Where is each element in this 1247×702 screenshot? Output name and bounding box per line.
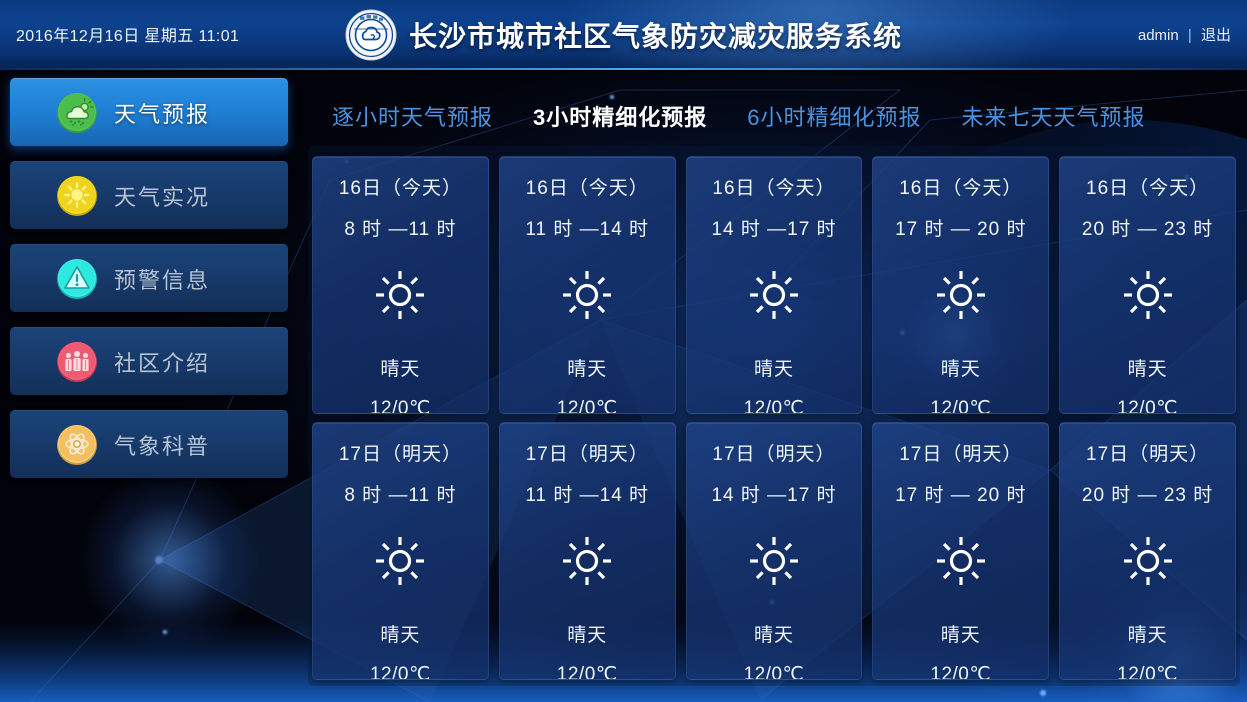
tab-hourly-forecast[interactable]: 逐小时天气预报 xyxy=(312,100,513,132)
forecast-card[interactable]: 17日（明天） 20 时 — 23 时 晴天 12/0℃ xyxy=(1059,422,1236,680)
card-description: 晴天 xyxy=(941,620,981,647)
card-temperature: 12/0℃ xyxy=(557,663,618,680)
card-description: 晴天 xyxy=(380,354,420,381)
card-day: 17日（明天） xyxy=(712,439,835,466)
sidebar-item-label: 预警信息 xyxy=(114,263,210,295)
card-day: 16日（今天） xyxy=(526,173,649,200)
forecast-card[interactable]: 17日（明天） 8 时 —11 时 晴天 12/0℃ xyxy=(312,422,489,680)
card-description: 晴天 xyxy=(567,354,607,381)
sidebar-item-live-weather[interactable]: 天气实况 xyxy=(10,161,288,229)
card-day: 16日（今天） xyxy=(899,173,1022,200)
sidebar-item-label: 天气实况 xyxy=(114,180,210,212)
card-range: 8 时 —11 时 xyxy=(344,214,456,241)
card-temperature: 12/0℃ xyxy=(744,397,805,414)
card-description: 晴天 xyxy=(380,620,420,647)
card-range: 17 时 — 20 时 xyxy=(895,480,1026,507)
sidebar-item-label: 天气预报 xyxy=(114,97,210,129)
forecast-panel: 16日（今天） 8 时 —11 时 晴天 12/0℃ xyxy=(308,146,1240,686)
card-description: 晴天 xyxy=(754,354,794,381)
cloud-sun-rain-icon xyxy=(56,92,98,134)
sun-icon xyxy=(1120,267,1176,328)
card-range: 14 时 —17 时 xyxy=(711,480,836,507)
sun-icon xyxy=(933,533,989,594)
card-day: 17日（明天） xyxy=(1086,439,1209,466)
page-title: 长沙市城市社区气象防灾减灾服务系统 xyxy=(409,15,902,55)
forecast-row-tomorrow: 17日（明天） 8 时 —11 时 晴天 12/0℃ xyxy=(308,422,1240,680)
card-day: 16日（今天） xyxy=(712,173,835,200)
forecast-card[interactable]: 17日（明天） 14 时 —17 时 晴天 12/0℃ xyxy=(686,422,863,680)
card-temperature: 12/0℃ xyxy=(370,397,431,414)
card-temperature: 12/0℃ xyxy=(1117,397,1178,414)
card-range: 20 时 — 23 时 xyxy=(1082,480,1213,507)
card-day: 17日（明天） xyxy=(339,439,462,466)
tab-seven-day-forecast[interactable]: 未来七天天气预报 xyxy=(942,100,1166,132)
sidebar-item-label: 社区介绍 xyxy=(114,346,210,378)
sun-icon xyxy=(559,267,615,328)
forecast-card[interactable]: 16日（今天） 17 时 — 20 时 晴天 12/0℃ xyxy=(872,156,1049,414)
sun-icon xyxy=(372,267,428,328)
warning-triangle-icon xyxy=(56,258,98,300)
logout-link[interactable]: 退出 xyxy=(1201,27,1231,44)
card-temperature: 12/0℃ xyxy=(930,663,991,680)
sidebar-item-community-intro[interactable]: 社区介绍 xyxy=(10,327,288,395)
sidebar-item-alerts[interactable]: 预警信息 xyxy=(10,244,288,312)
sidebar-item-science-popularization[interactable]: 气象科普 xyxy=(10,410,288,478)
atom-icon xyxy=(56,424,98,466)
app-brand: 长沙市城市社区气象防灾减灾服务系统 xyxy=(0,0,1247,70)
card-description: 晴天 xyxy=(1128,620,1168,647)
sidebar-item-weather-forecast[interactable]: 天气预报 xyxy=(10,78,288,146)
card-day: 17日（明天） xyxy=(899,439,1022,466)
user-account-area: admin | 退出 xyxy=(1138,24,1231,45)
app-header: 2016年12月16日 星期五 11:01 长沙市城市社区 xyxy=(0,0,1247,70)
sun-icon xyxy=(56,175,98,217)
sun-icon xyxy=(746,267,802,328)
sun-icon xyxy=(372,533,428,594)
card-temperature: 12/0℃ xyxy=(744,663,805,680)
forecast-card[interactable]: 16日（今天） 11 时 —14 时 晴天 12/0℃ xyxy=(499,156,676,414)
card-description: 晴天 xyxy=(1128,354,1168,381)
sun-icon xyxy=(746,533,802,594)
sidebar-nav: 天气预报 天气实况 xyxy=(0,78,300,493)
card-range: 14 时 —17 时 xyxy=(711,214,836,241)
card-range: 11 时 —14 时 xyxy=(525,214,649,241)
sun-icon xyxy=(933,267,989,328)
header-separator: | xyxy=(1188,27,1192,44)
forecast-card[interactable]: 16日（今天） 14 时 —17 时 晴天 12/0℃ xyxy=(686,156,863,414)
forecast-tabs: 逐小时天气预报 3小时精细化预报 6小时精细化预报 未来七天天气预报 xyxy=(312,94,1166,138)
card-range: 11 时 —14 时 xyxy=(525,480,649,507)
card-range: 8 时 —11 时 xyxy=(344,480,456,507)
sidebar-item-label: 气象科普 xyxy=(114,429,210,461)
forecast-card[interactable]: 16日（今天） 20 时 — 23 时 晴天 12/0℃ xyxy=(1059,156,1236,414)
card-description: 晴天 xyxy=(567,620,607,647)
card-range: 17 时 — 20 时 xyxy=(895,214,1026,241)
card-day: 16日（今天） xyxy=(1086,173,1209,200)
tab-6hour-forecast[interactable]: 6小时精细化预报 xyxy=(727,100,941,132)
card-temperature: 12/0℃ xyxy=(1117,663,1178,680)
card-day: 17日（明天） xyxy=(526,439,649,466)
card-temperature: 12/0℃ xyxy=(557,397,618,414)
card-temperature: 12/0℃ xyxy=(930,397,991,414)
forecast-row-today: 16日（今天） 8 时 —11 时 晴天 12/0℃ xyxy=(308,156,1240,414)
cma-emblem-icon xyxy=(345,9,397,61)
forecast-card[interactable]: 16日（今天） 8 时 —11 时 晴天 12/0℃ xyxy=(312,156,489,414)
card-description: 晴天 xyxy=(941,354,981,381)
card-description: 晴天 xyxy=(754,620,794,647)
forecast-card[interactable]: 17日（明天） 11 时 —14 时 晴天 12/0℃ xyxy=(499,422,676,680)
card-temperature: 12/0℃ xyxy=(370,663,431,680)
sun-icon xyxy=(1120,533,1176,594)
main-content: 逐小时天气预报 3小时精细化预报 6小时精细化预报 未来七天天气预报 16日（今… xyxy=(300,78,1247,694)
tab-3hour-forecast[interactable]: 3小时精细化预报 xyxy=(513,100,727,132)
sun-icon xyxy=(559,533,615,594)
card-range: 20 时 — 23 时 xyxy=(1082,214,1213,241)
people-group-icon xyxy=(56,341,98,383)
username-label: admin xyxy=(1138,27,1179,44)
forecast-card[interactable]: 17日（明天） 17 时 — 20 时 晴天 12/0℃ xyxy=(872,422,1049,680)
card-day: 16日（今天） xyxy=(339,173,462,200)
